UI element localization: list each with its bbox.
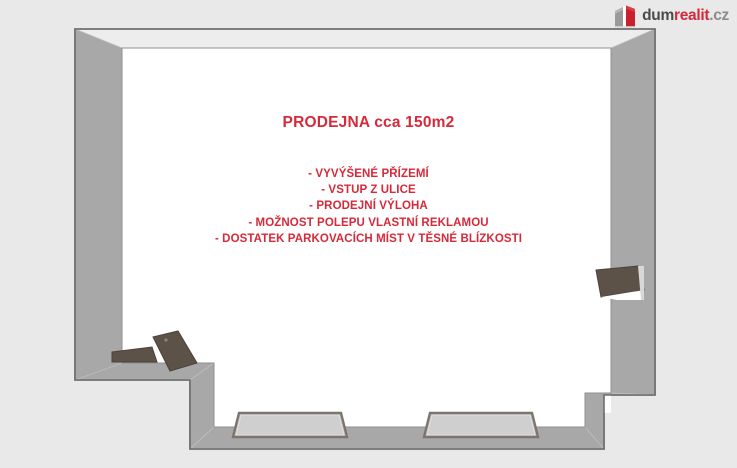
floorplan-stage: PRODEJNA cca 150m2 - VYVÝŠENÉ PŘÍZEMÍ - … [0,0,737,468]
shop-window-1 [233,413,347,437]
shop-window-2 [424,413,538,437]
floorplan-title-block: PRODEJNA cca 150m2 [0,114,737,132]
list-item: - VYVÝŠENÉ PŘÍZEMÍ [0,166,737,182]
list-item: - PRODEJNÍ VÝLOHA [0,198,737,214]
logo-text: dumrealit.cz [642,8,729,24]
feature-list: - VYVÝŠENÉ PŘÍZEMÍ - VSTUP Z ULICE - PRO… [0,166,737,247]
building-logo-icon [614,4,636,28]
door-right [596,266,644,300]
page-title: PRODEJNA cca 150m2 [283,114,455,131]
logo-text-cz: .cz [709,7,729,24]
logo-text-realit: realit [674,7,709,24]
list-item: - VSTUP Z ULICE [0,182,737,198]
list-item: - MOŽNOST POLEPU VLASTNÍ REKLAMOU [0,215,737,231]
logo-text-dum: dum [642,7,674,24]
watermark-logo: dumrealit.cz [614,4,729,28]
list-item: - DOSTATEK PARKOVACÍCH MÍST V TĚSNÉ BLÍZ… [0,231,737,247]
